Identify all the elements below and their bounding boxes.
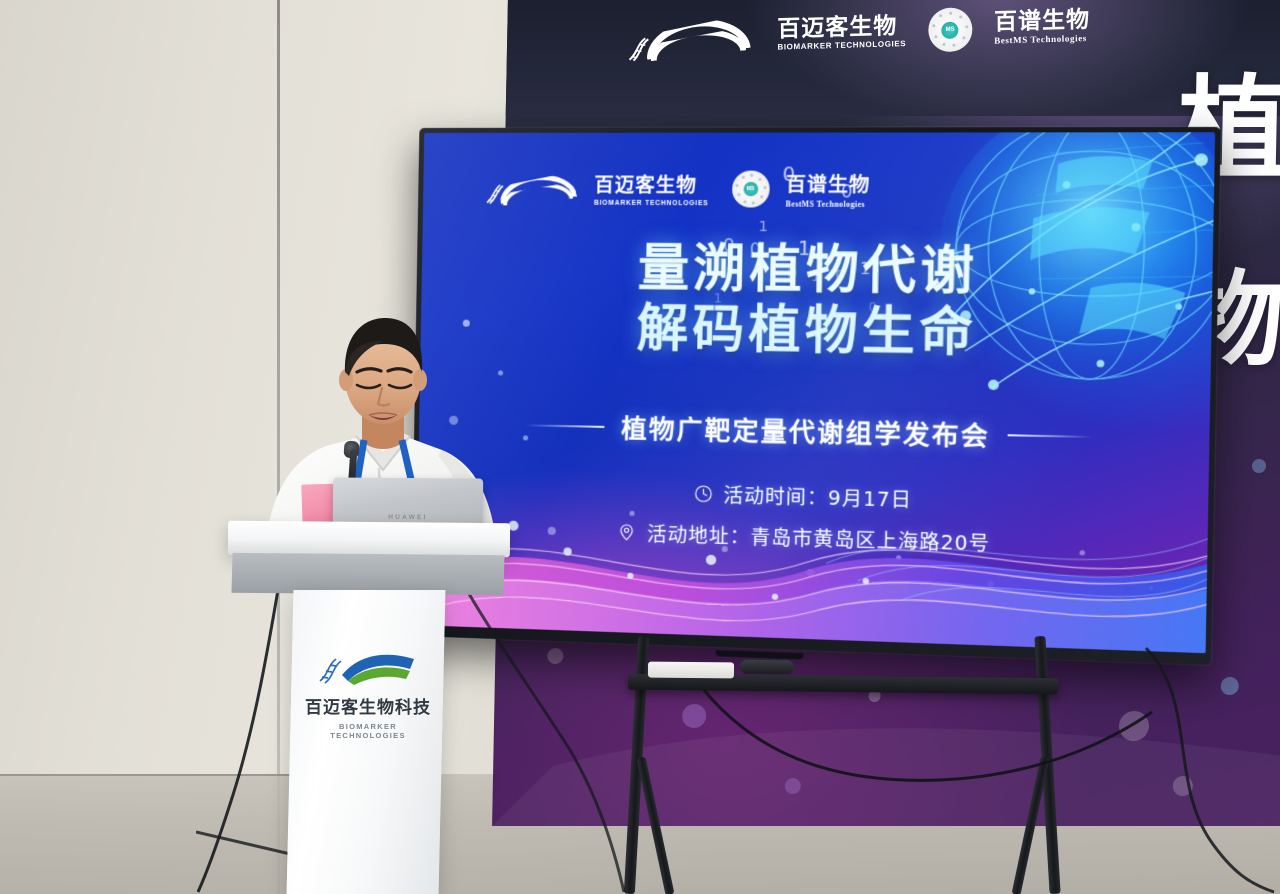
photo-scene: 百迈客生物 BIOMARKER TECHNOLOGIES MS 百谱生物 Bes… — [0, 0, 1280, 894]
clock-icon — [693, 484, 713, 504]
slide-meta-time: 活动时间：9月17日 — [723, 481, 912, 514]
shelf-remote-control[interactable] — [740, 660, 794, 675]
slide-biomarker-arc-icon — [485, 171, 578, 206]
laptop-brand-label: HUAWEI — [388, 514, 427, 521]
slide-title-line-2: 解码植物生命 — [420, 296, 1212, 367]
slide-meta-address-row: 活动地址：青岛市黄岛区上海路20号 — [417, 513, 1208, 563]
podium-logo-en: BIOMARKER TECHNOLOGIES — [300, 722, 436, 740]
laptop-lid[interactable]: HUAWEI — [333, 477, 483, 526]
ms-badge-label: MS — [942, 21, 959, 38]
podium-top-surface — [228, 521, 510, 557]
podium-logo: 百迈客生物科技 BIOMARKER TECHNOLOGIES — [300, 645, 436, 740]
podium-column — [287, 590, 446, 894]
slide-title-line-1: 量溯植物代谢 — [421, 237, 1213, 304]
slide-brand-secondary-cn: 百谱生物 — [786, 170, 871, 198]
subtitle-rule-right — [1007, 434, 1092, 438]
slide-bestms-badge-icon: MS — [731, 171, 769, 208]
slide-brand-primary-cn: 百迈客生物 — [594, 170, 709, 198]
slide-ms-badge-label: MS — [743, 182, 758, 196]
wall-display-tv[interactable]: 百迈客生物 BIOMARKER TECHNOLOGIES MS 百谱生物 Bes… — [411, 127, 1221, 665]
backdrop-brand-primary-cn: 百迈客生物 — [777, 15, 906, 42]
podium-arc-svg — [314, 645, 422, 685]
podium-apron — [231, 553, 504, 595]
floor-baseboard-line — [0, 774, 300, 776]
subtitle-rule-left — [526, 424, 605, 428]
backdrop-brand-secondary-en: BestMS Technologies — [994, 34, 1090, 46]
biomarker-arc-logo-icon — [627, 12, 755, 62]
slide-meta-address: 活动地址：青岛市黄岛区上海路20号 — [647, 519, 991, 557]
podium-logo-cn: 百迈客生物科技 — [300, 693, 436, 718]
tv-screen[interactable]: 百迈客生物 BIOMARKER TECHNOLOGIES MS 百谱生物 Bes… — [416, 132, 1215, 653]
slide-title-block: 量溯植物代谢 解码植物生命 — [420, 237, 1213, 366]
slide-brand-primary-en: BIOMARKER TECHNOLOGIES — [594, 200, 709, 208]
slide-logo-row: 百迈客生物 BIOMARKER TECHNOLOGIES MS 百谱生物 Bes… — [485, 169, 871, 209]
slide-subtitle: 植物广靶定量代谢组学发布会 — [621, 409, 990, 454]
tv-bezel: 百迈客生物 BIOMARKER TECHNOLOGIES MS 百谱生物 Bes… — [411, 127, 1221, 665]
backdrop-brand-secondary-cn: 百谱生物 — [994, 9, 1090, 35]
backdrop-brand-primary-en: BIOMARKER TECHNOLOGIES — [777, 40, 906, 52]
location-pin-icon — [617, 523, 637, 543]
podium-arc-logo-icon — [314, 645, 422, 685]
bestms-badge-icon: MS — [928, 7, 972, 52]
slide-brand-secondary-en: BestMS Technologies — [786, 199, 870, 209]
shelf-white-box — [648, 662, 734, 679]
binary-digit: 1 — [758, 219, 768, 235]
